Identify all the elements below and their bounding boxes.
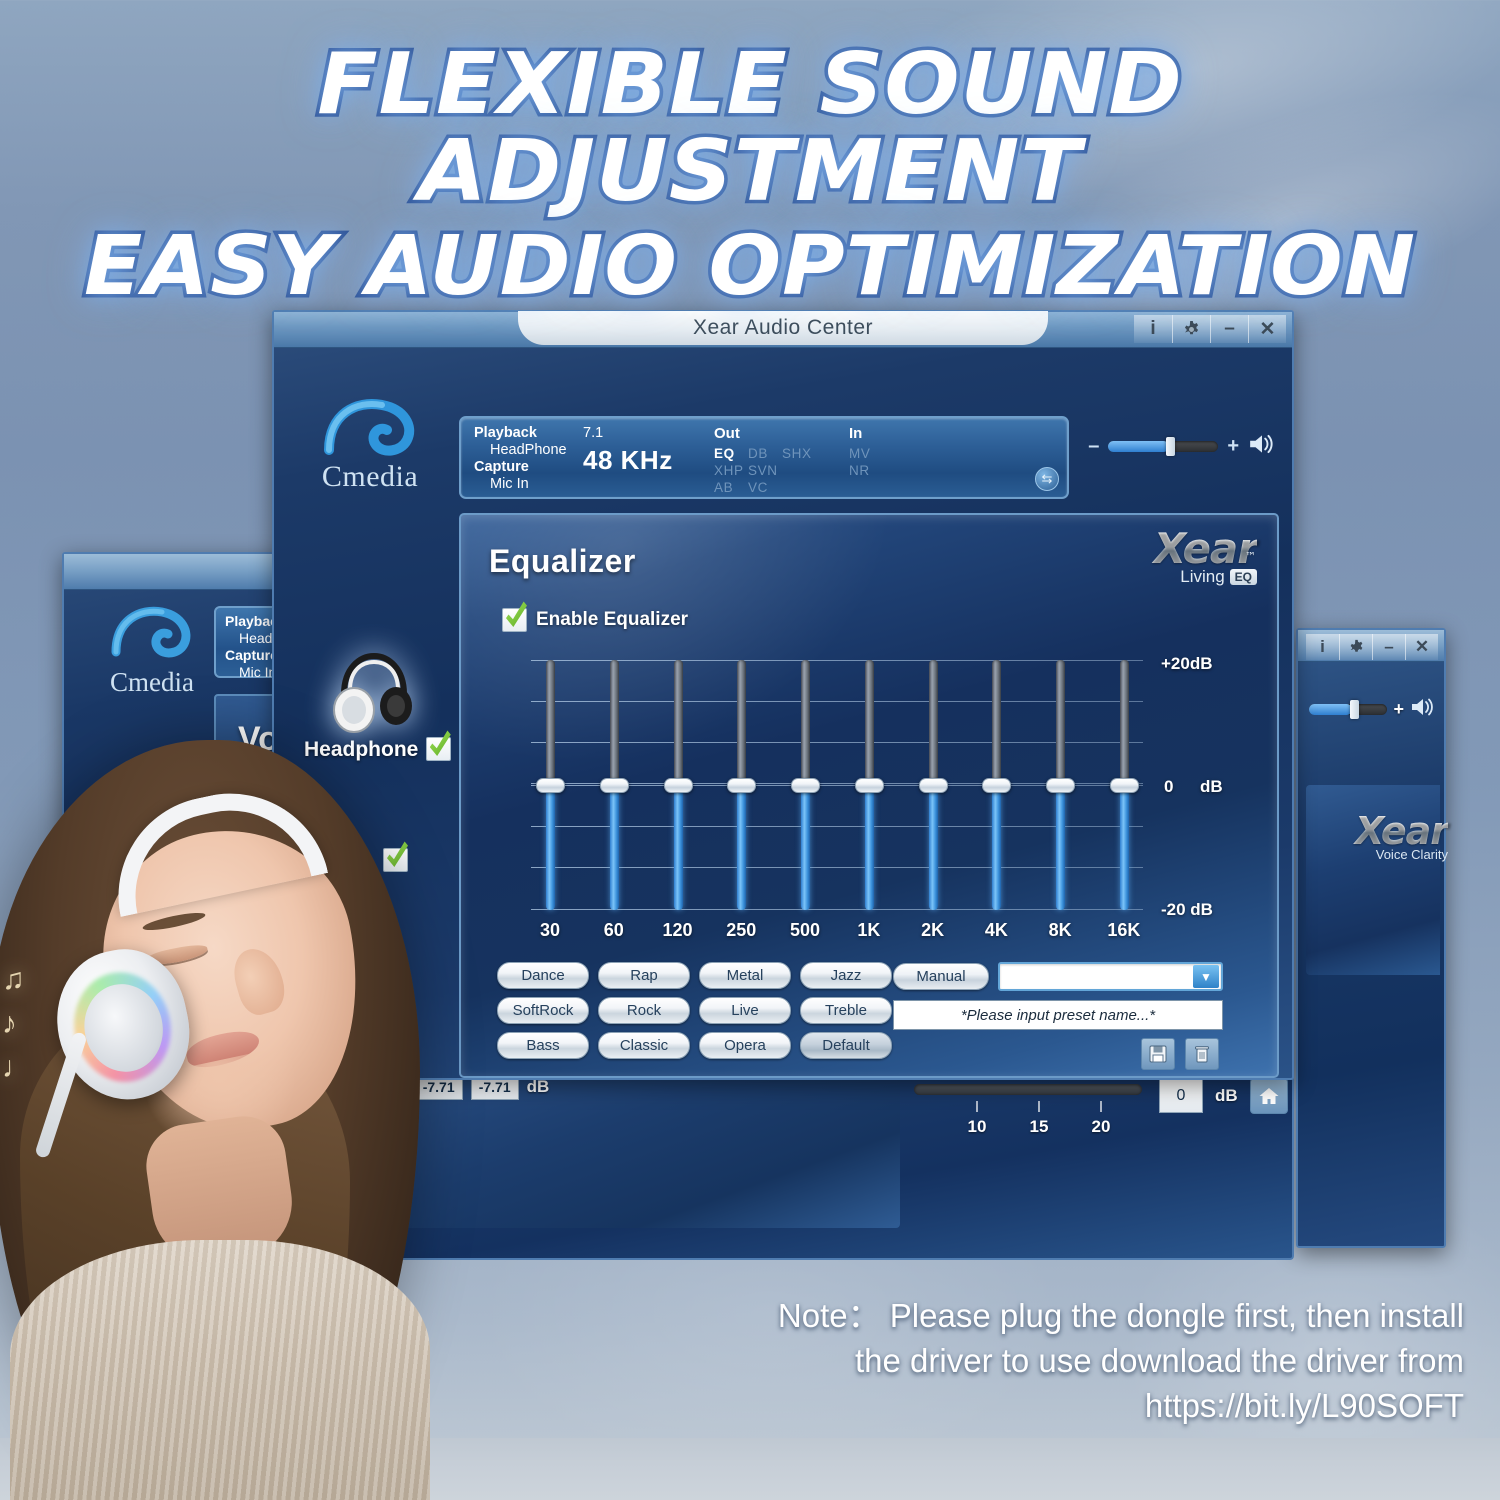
scale-label-20: 20 <box>1092 1117 1111 1137</box>
status-panel: Playback HeadPhone Capture Mic In 7.1 48… <box>459 416 1069 499</box>
flag-xhp: XHP <box>714 462 748 479</box>
preset-button-default[interactable]: Default <box>800 1032 892 1059</box>
flag-shx: SHX <box>782 445 816 462</box>
manual-button[interactable]: Manual <box>893 963 989 990</box>
manual-row: Manual ▼ <box>893 962 1223 991</box>
eq-slider-60[interactable] <box>603 660 625 910</box>
freq-label-120: 120 <box>659 920 697 941</box>
freq-label-4K: 4K <box>977 920 1015 941</box>
slider-bank[interactable] <box>531 660 1143 910</box>
slider-knob[interactable] <box>1110 778 1139 793</box>
speaker-icon[interactable] <box>1410 696 1436 722</box>
volume-fill <box>1108 441 1169 452</box>
enable-equalizer-checkbox[interactable] <box>502 608 527 632</box>
cmedia-logo: Cmedia <box>92 604 212 698</box>
status-format: 7.1 48 KHz <box>583 425 673 476</box>
xear-voice-clarity-logo: Xear Voice Clarity <box>1318 813 1448 862</box>
flag-nr: NR <box>849 462 883 479</box>
slider-knob[interactable] <box>727 778 756 793</box>
info-icon[interactable]: i <box>1306 634 1339 660</box>
slider-knob[interactable] <box>536 778 565 793</box>
slider-knob[interactable] <box>855 778 884 793</box>
volume-slider[interactable] <box>1108 441 1218 452</box>
slider-knob[interactable] <box>919 778 948 793</box>
slider-fill <box>1120 785 1129 910</box>
preset-button-bass[interactable]: Bass <box>497 1032 589 1059</box>
volume-slider[interactable] <box>1309 704 1387 715</box>
swap-icon[interactable]: ⇆ <box>1035 467 1059 491</box>
preset-button-live[interactable]: Live <box>699 997 791 1024</box>
eq-slider-8K[interactable] <box>1049 660 1071 910</box>
slider-fill <box>801 785 810 910</box>
eq-slider-250[interactable] <box>730 660 752 910</box>
scale-tick <box>1038 1101 1040 1112</box>
manual-preset-area: Manual ▼ *Please input preset name...* <box>893 962 1223 1070</box>
freq-label-30: 30 <box>531 920 569 941</box>
freq-label-500: 500 <box>786 920 824 941</box>
cmedia-label: Cmedia <box>92 667 212 698</box>
preset-dropdown[interactable]: ▼ <box>998 962 1223 991</box>
headline-line-2: EASY AUDIO OPTIMIZATION <box>0 225 1500 309</box>
status-devices: Playback HeadPhone Capture Mic In <box>474 425 567 493</box>
freq-label-8K: 8K <box>1041 920 1079 941</box>
cmedia-label: Cmedia <box>310 460 430 494</box>
enable-equalizer-row[interactable]: Enable Equalizer <box>499 608 688 632</box>
window-buttons[interactable]: i – ✕ <box>1134 314 1286 344</box>
preset-button-grid: DanceRapMetalJazzSoftRockRockLiveTrebleB… <box>497 962 892 1059</box>
preset-button-classic[interactable]: Classic <box>598 1032 690 1059</box>
playback-device: HeadPhone <box>474 442 567 459</box>
status-in: In MV NR <box>849 425 883 479</box>
equalizer-graph <box>531 660 1143 910</box>
scale-tick <box>1100 1101 1102 1112</box>
volume-fill <box>1309 704 1352 715</box>
note-line-2: the driver to use download the driver fr… <box>704 1338 1464 1383</box>
home-icon[interactable] <box>1250 1078 1288 1114</box>
scale-label-15: 15 <box>1030 1117 1049 1137</box>
note-line-3: https://bit.ly/L90SOFT <box>704 1383 1464 1428</box>
scale-label-10: 10 <box>968 1117 987 1137</box>
equalizer-panel: Equalizer Xear ™ Living EQ Enable Equali… <box>459 513 1279 1078</box>
preset-button-treble[interactable]: Treble <box>800 997 892 1024</box>
eq-slider-4K[interactable] <box>985 660 1007 910</box>
out-label: Out <box>714 425 816 442</box>
window-buttons[interactable]: i – ✕ <box>1306 632 1438 662</box>
eq-slider-16K[interactable] <box>1113 660 1135 910</box>
range-slider-track[interactable] <box>914 1084 1142 1095</box>
window-title: Xear Audio Center <box>518 311 1048 345</box>
gain-unit: dB <box>1215 1086 1238 1106</box>
preset-actions <box>893 1038 1223 1070</box>
headline-line-1: FLEXIBLE SOUND ADJUSTMENT <box>0 42 1500 215</box>
earcup-inner <box>76 977 171 1079</box>
axis-unit-db: dB <box>1200 777 1223 797</box>
capture-device: Mic In <box>474 476 567 493</box>
playback-label: Playback <box>474 425 567 442</box>
right-window-panel: Xear Voice Clarity <box>1306 785 1440 975</box>
eq-slider-500[interactable] <box>794 660 816 910</box>
close-icon[interactable]: ✕ <box>1405 634 1438 660</box>
axis-label-zero: 0 <box>1164 777 1173 797</box>
xear-wordmark: Xear ™ <box>1107 529 1257 569</box>
volume-control[interactable]: – + <box>1088 432 1276 460</box>
xear-word-text: Xear <box>1154 524 1257 573</box>
flag-svn: SVN <box>748 462 782 479</box>
note-line-1: Note： Please plug the dongle first, then… <box>704 1293 1464 1338</box>
trademark-icon: ™ <box>1245 537 1255 577</box>
slider-fill <box>674 785 683 910</box>
chevron-down-icon[interactable]: ▼ <box>1193 965 1219 988</box>
preset-button-softrock[interactable]: SoftRock <box>497 997 589 1024</box>
floppy-disk-icon[interactable] <box>1141 1038 1175 1070</box>
eq-slider-30[interactable] <box>539 660 561 910</box>
range-scale: 10 15 20 <box>914 1095 1142 1141</box>
eq-slider-1K[interactable] <box>858 660 880 910</box>
slider-fill <box>992 785 1001 910</box>
sweater <box>10 1240 430 1500</box>
volume-knob[interactable] <box>1166 437 1175 456</box>
volume-plus[interactable]: + <box>1227 436 1239 456</box>
volume-knob[interactable] <box>1350 700 1359 719</box>
volume-minus[interactable]: – <box>1088 436 1099 456</box>
freq-label-250: 250 <box>722 920 760 941</box>
slider-knob[interactable] <box>600 778 629 793</box>
preset-button-rock[interactable]: Rock <box>598 997 690 1024</box>
axis-label-top: +20dB <box>1161 654 1213 674</box>
right-controls: 0 dB <box>1159 1078 1288 1114</box>
volume-control[interactable]: + <box>1309 696 1436 722</box>
eq-slider-2K[interactable] <box>922 660 944 910</box>
out-flag-list: EQDBSHX XHPSVN ABVC <box>714 445 816 496</box>
status-out: Out EQDBSHX XHPSVN ABVC <box>714 425 816 496</box>
freq-label-60: 60 <box>595 920 633 941</box>
freq-label-2K: 2K <box>914 920 952 941</box>
scale-tick <box>976 1101 978 1112</box>
flag-ab: AB <box>714 479 748 496</box>
preset-button-opera[interactable]: Opera <box>699 1032 791 1059</box>
minimize-icon[interactable]: – <box>1372 634 1405 660</box>
slider-knob[interactable] <box>791 778 820 793</box>
panel-title: Equalizer <box>489 543 636 580</box>
slider-knob[interactable] <box>1046 778 1075 793</box>
in-label: In <box>849 425 883 442</box>
gear-icon[interactable] <box>1339 634 1372 660</box>
background-window-right[interactable]: i – ✕ + Xear Voice Clarity <box>1296 628 1446 1248</box>
slider-knob[interactable] <box>982 778 1011 793</box>
slider-fill <box>865 785 874 910</box>
volume-plus[interactable]: + <box>1393 699 1404 720</box>
cmedia-logo: Cmedia <box>310 396 430 494</box>
slider-fill <box>737 785 746 910</box>
slider-fill <box>546 785 555 910</box>
enable-equalizer-label: Enable Equalizer <box>536 609 688 631</box>
frequency-labels: 30601202505001K2K4K8K16K <box>531 920 1143 941</box>
slider-fill <box>929 785 938 910</box>
db-unit-mid: dB <box>527 1077 550 1097</box>
capture-label: Capture <box>474 459 567 476</box>
xear-living-eq-logo: Xear ™ Living EQ <box>1107 529 1257 587</box>
cmedia-swirl-icon <box>322 396 418 458</box>
flag-eq: EQ <box>714 445 748 462</box>
gain-value-box[interactable]: 0 <box>1159 1079 1203 1113</box>
speaker-icon[interactable] <box>1248 432 1276 460</box>
flag-mv: MV <box>849 445 883 462</box>
preset-button-rap[interactable]: Rap <box>598 962 690 989</box>
xear-wordmark: Xear <box>1318 813 1448 849</box>
preset-button-jazz[interactable]: Jazz <box>800 962 892 989</box>
preset-button-dance[interactable]: Dance <box>497 962 589 989</box>
trash-icon[interactable] <box>1185 1038 1219 1070</box>
cmedia-swirl-icon <box>110 604 194 660</box>
sample-rate: 48 KHz <box>583 445 673 476</box>
background-wisp <box>821 0 1500 270</box>
eq-slider-120[interactable] <box>667 660 689 910</box>
titlebar[interactable]: i – ✕ <box>1298 630 1444 662</box>
flag-db: DB <box>748 445 782 462</box>
note-block: Note： Please plug the dongle first, then… <box>704 1293 1464 1428</box>
freq-label-16K: 16K <box>1105 920 1143 941</box>
slider-knob[interactable] <box>664 778 693 793</box>
model-photo: ♫♪♩ <box>0 700 470 1500</box>
preset-name-input[interactable]: *Please input preset name...* <box>893 1000 1223 1030</box>
flag-vc: VC <box>748 479 782 496</box>
minimize-icon[interactable]: – <box>1210 315 1248 343</box>
gear-icon[interactable] <box>1172 315 1210 343</box>
page-title: FLEXIBLE SOUND ADJUSTMENT EASY AUDIO OPT… <box>0 42 1500 309</box>
slider-fill <box>610 785 619 910</box>
titlebar[interactable]: Xear Audio Center i – ✕ <box>274 312 1292 348</box>
axis-label-bottom: -20 dB <box>1161 900 1213 920</box>
channel-count: 7.1 <box>583 425 673 441</box>
slider-fill <box>1056 785 1065 910</box>
music-notes-icon: ♫♪♩ <box>2 958 32 1090</box>
freq-label-1K: 1K <box>850 920 888 941</box>
info-icon[interactable]: i <box>1134 315 1172 343</box>
preset-button-metal[interactable]: Metal <box>699 962 791 989</box>
in-flag-list: MV NR <box>849 445 883 479</box>
close-icon[interactable]: ✕ <box>1248 315 1286 343</box>
